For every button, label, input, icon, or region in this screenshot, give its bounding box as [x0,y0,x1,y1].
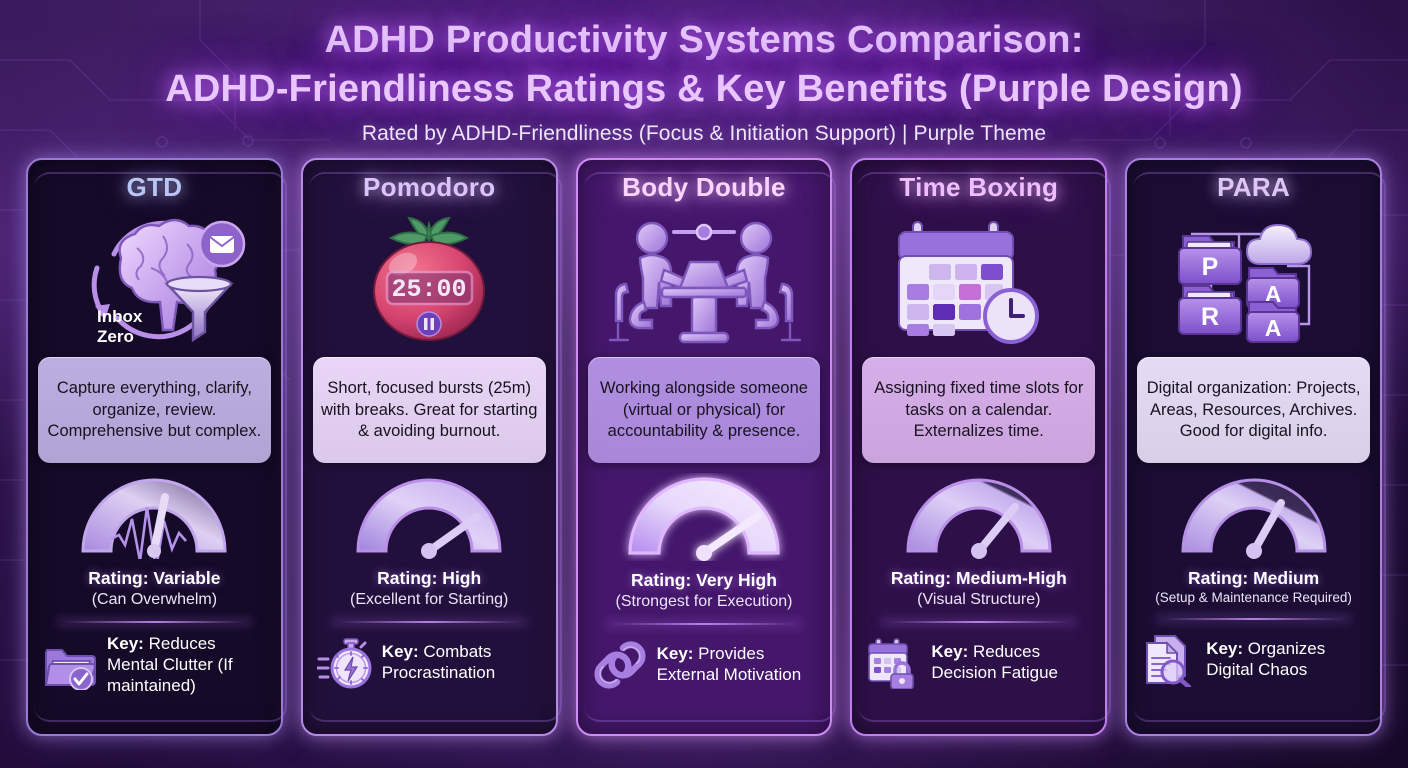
card-time-boxing[interactable]: Time Boxing [850,158,1107,736]
key-benefit-text: Key: Reduces Mental Clutter (If maintain… [107,634,267,696]
card-title: Pomodoro [363,172,495,203]
rating-block: Rating: Very High (Strongest for Executi… [616,570,793,612]
rating-main: Rating: Very High [616,570,793,592]
calendar-lock-icon [866,634,922,692]
divider [881,621,1077,623]
card-para[interactable]: PARA [1125,158,1382,736]
folders-cloud-icon: P R A A [1137,205,1370,357]
gauge-rating [615,473,793,566]
rating-sub: (Setup & Maintenance Required) [1155,590,1352,607]
folder-check-icon [42,636,98,694]
divider [57,621,253,623]
key-benefit-text: Key: Organizes Digital Chaos [1206,639,1366,680]
calendar-clock-icon [862,205,1095,357]
rating-block: Rating: Variable (Can Overwhelm) [88,568,220,610]
card-title: Time Boxing [899,172,1058,203]
key-benefit-text: Key: Combats Procrastination [382,642,542,683]
chain-link-icon [592,636,648,694]
folder-letter-p: P [1202,253,1219,281]
card-description: Digital organization: Projects, Areas, R… [1137,357,1370,463]
key-benefit-row: Key: Combats Procrastination [313,634,546,692]
key-benefit-text: Key: Reduces Decision Fatigue [931,642,1091,683]
rating-main: Rating: Medium [1155,568,1352,590]
card-description: Assigning fixed time slots for tasks on … [862,357,1095,463]
gauge-rating [894,473,1064,564]
infographic-root: ADHD Productivity Systems Comparison: AD… [0,0,1408,768]
rating-main: Rating: High [350,568,508,590]
card-title: Body Double [622,172,786,203]
key-label: Key: [107,634,144,653]
rating-sub: (Strongest for Execution) [616,592,793,612]
key-label: Key: [931,642,968,661]
rating-sub: (Visual Structure) [891,590,1067,610]
gauge-rating [69,473,239,564]
rating-main: Rating: Variable [88,568,220,590]
card-description: Working alongside someone (virtual or ph… [588,357,821,463]
folder-letter-r: R [1201,303,1219,331]
rating-sub: (Can Overwhelm) [88,590,220,610]
card-description: Short, focused bursts (25m) with breaks.… [313,357,546,463]
divider [331,621,527,623]
rating-sub: (Excellent for Starting) [350,590,508,610]
brain-inbox-funnel-icon: Inbox Zero [38,205,271,357]
inbox-label: Inbox [97,307,143,326]
rating-block: Rating: High (Excellent for Starting) [350,568,508,610]
page-subtitle: Rated by ADHD-Friendliness (Focus & Init… [0,122,1408,146]
timer-display: 25:00 [392,275,467,304]
page-title-line-1: ADHD Productivity Systems Comparison: [0,16,1408,65]
card-gtd[interactable]: GTD [26,158,283,736]
tomato-timer-icon: 25:00 [313,205,546,357]
gauge-rating [344,473,514,564]
documents-search-icon [1141,631,1197,689]
rating-block: Rating: Medium-High (Visual Structure) [891,568,1067,610]
two-people-desk-icon [588,205,821,357]
folder-letter-a2: A [1265,315,1282,341]
cards-row: GTD [0,146,1408,736]
divider [606,623,802,625]
header: ADHD Productivity Systems Comparison: AD… [0,0,1408,146]
stopwatch-bolt-icon [317,634,373,692]
key-label: Key: [1206,639,1243,658]
card-body-double[interactable]: Body Double [576,158,833,736]
key-benefit-text: Key: Provides External Motivation [657,644,817,685]
zero-label: Zero [97,327,134,346]
key-benefit-row: Key: Reduces Mental Clutter (If maintain… [38,634,271,696]
card-title: GTD [127,172,183,203]
rating-main: Rating: Medium-High [891,568,1067,590]
page-title-line-2: ADHD-Friendliness Ratings & Key Benefits… [0,65,1408,114]
divider [1156,618,1352,620]
card-description: Capture everything, clarify, organize, r… [38,357,271,463]
key-benefit-row: Key: Reduces Decision Fatigue [862,634,1095,692]
card-pomodoro[interactable]: Pomodoro [301,158,558,736]
gauge-rating [1169,473,1339,564]
key-label: Key: [382,642,419,661]
rating-block: Rating: Medium (Setup & Maintenance Requ… [1155,568,1352,607]
card-title: PARA [1217,172,1290,203]
key-label: Key: [657,644,694,663]
key-benefit-row: Key: Organizes Digital Chaos [1137,631,1370,689]
key-benefit-row: Key: Provides External Motivation [588,636,821,694]
